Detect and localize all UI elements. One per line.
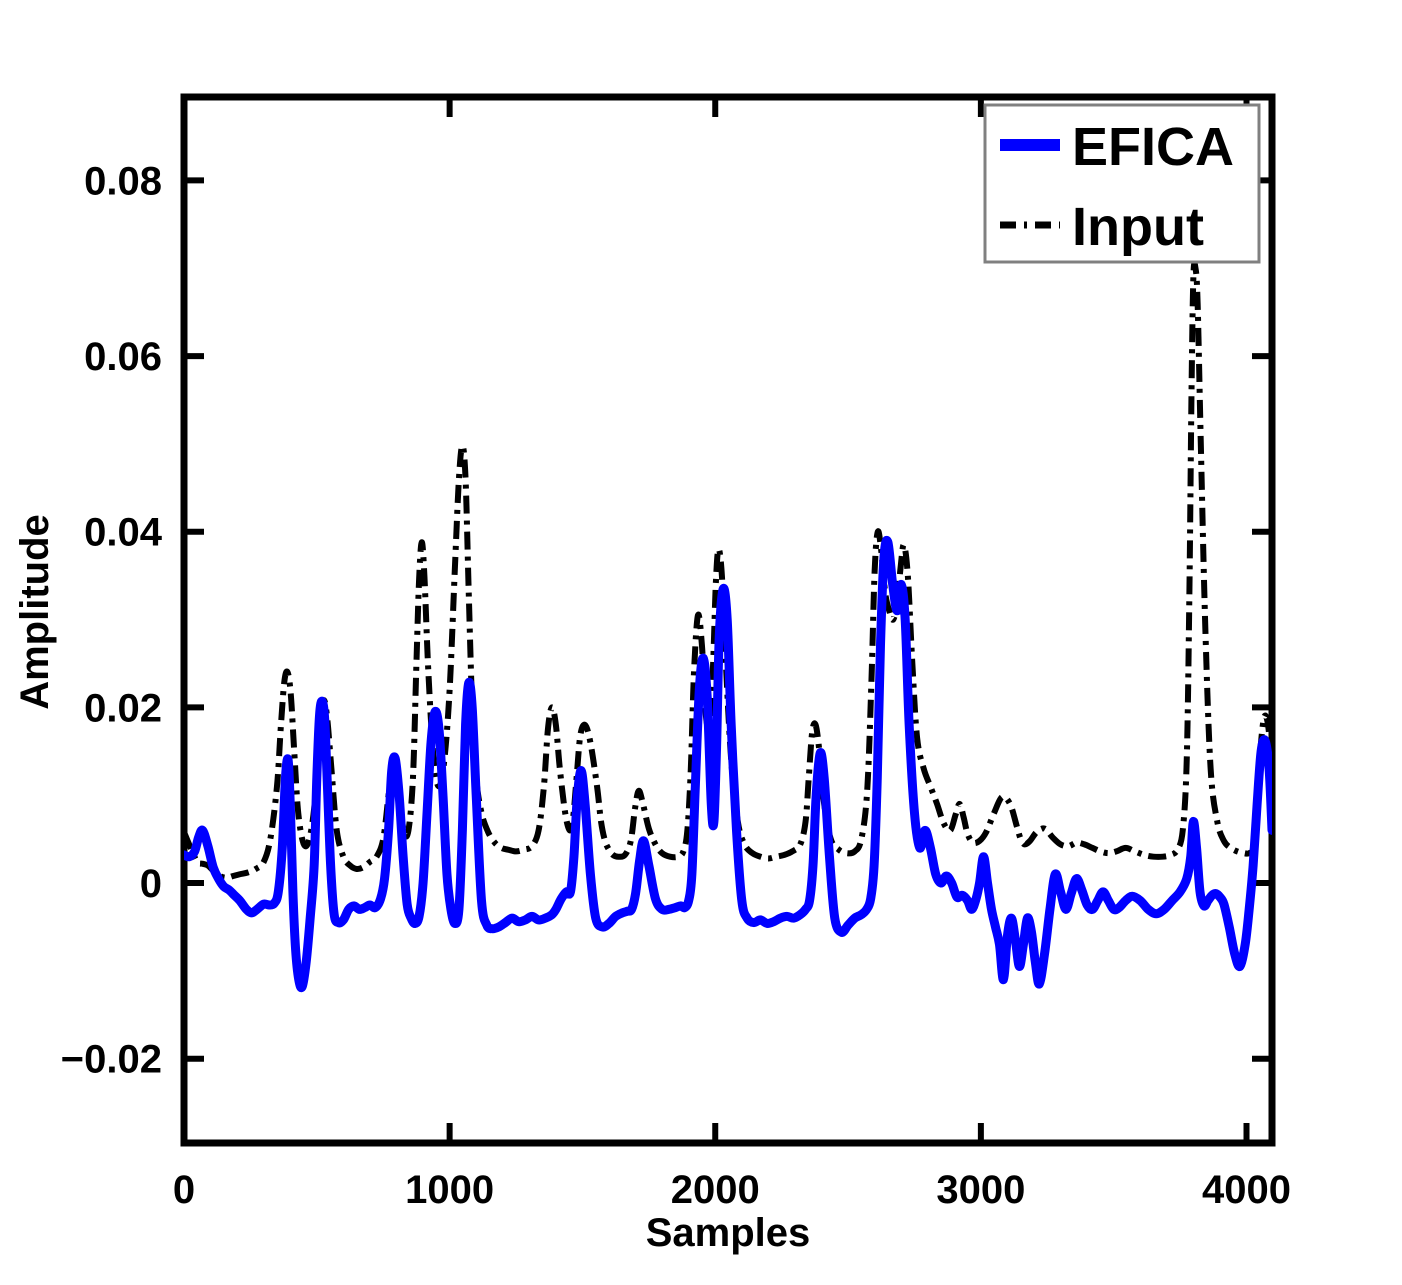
y-tick-label: 0.04: [84, 511, 163, 555]
y-tick-label: 0.08: [84, 159, 162, 203]
chart-figure: −0.0200.020.040.060.08 01000200030004000…: [0, 0, 1402, 1285]
line-chart: −0.0200.020.040.060.08 01000200030004000…: [0, 0, 1402, 1285]
y-tick-label: 0: [140, 862, 162, 906]
x-tick-label: 2000: [671, 1168, 760, 1212]
x-tick-label: 4000: [1202, 1168, 1291, 1212]
y-tick-label: 0.02: [84, 686, 162, 730]
x-axis-title: Samples: [646, 1211, 811, 1255]
x-tick-label: 0: [173, 1168, 195, 1212]
x-tick-label: 1000: [405, 1168, 494, 1212]
y-tick-label: 0.06: [84, 335, 162, 379]
legend-label-input: Input: [1072, 197, 1204, 257]
y-tick-label: −0.02: [61, 1038, 162, 1082]
x-tick-label: 3000: [936, 1168, 1025, 1212]
y-axis-title: Amplitude: [13, 514, 57, 710]
legend-label-efica: EFICA: [1072, 117, 1234, 177]
chart-legend[interactable]: EFICA Input: [985, 105, 1259, 262]
